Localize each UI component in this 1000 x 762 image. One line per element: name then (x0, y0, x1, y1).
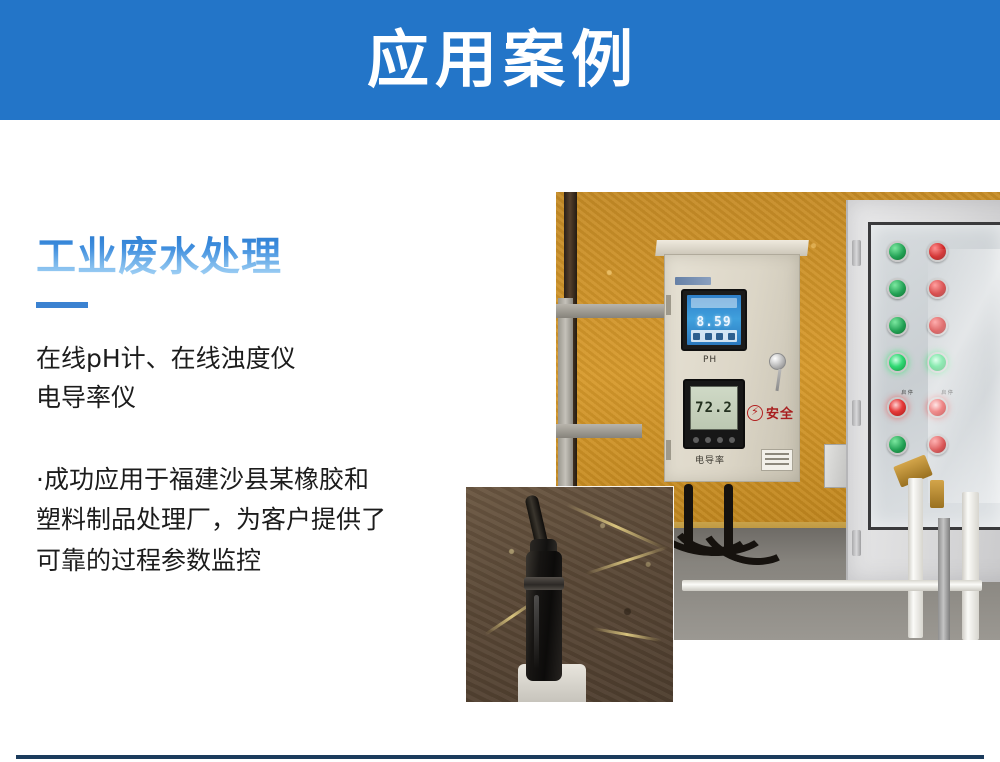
conductivity-key (729, 437, 735, 443)
ph-key (705, 333, 712, 340)
instrument-list: 在线pH计、在线浊度仪 电导率仪 (36, 340, 456, 418)
instrument-line: 电导率仪 (36, 379, 456, 418)
cable-drop (684, 484, 693, 552)
ph-key (716, 333, 723, 340)
instrument-line: 在线pH计、在线浊度仪 (36, 340, 456, 379)
pushbutton-red (927, 397, 948, 418)
indicator-lamp-green-lit (887, 352, 908, 373)
control-cabinet-hinge (852, 530, 861, 556)
pvc-pipe-vertical (962, 492, 979, 640)
probe-collar (524, 577, 564, 590)
cable-drop (724, 484, 733, 556)
cabinet-key (775, 369, 781, 391)
nameplate-line (765, 453, 789, 455)
safety-marking: ⚡ 安全 (747, 403, 794, 422)
application-case-page: 应用案例 工业废水处理 在线pH计、在线浊度仪 电导率仪 ·成功应用于福建沙县某… (0, 0, 1000, 762)
page-title: 应用案例 (361, 29, 639, 91)
indicator-lamp-green (887, 241, 908, 262)
indicator-lamp-red (927, 278, 948, 299)
sensor-probe-body (526, 551, 562, 681)
indicator-lamp-green (887, 315, 908, 336)
control-cabinet-hinge (852, 400, 861, 426)
indicator-lamp-green (887, 278, 908, 299)
metal-support-post (938, 518, 950, 640)
sensor-probe-photo (466, 487, 673, 702)
pushbutton-caption: 启 停 (887, 389, 927, 396)
mounting-bracket (556, 424, 642, 438)
pushbutton-red (887, 397, 908, 418)
case-description-line: 塑料制品处理厂，为客户提供了 (36, 500, 446, 541)
cabinet-door-panel: 8.59 PH 72.2 (664, 254, 800, 482)
pvc-pipe-horizontal (682, 580, 982, 591)
safety-label-text: 安全 (766, 403, 794, 422)
conductivity-key (717, 437, 723, 443)
case-description: ·成功应用于福建沙县某橡胶和 塑料制品处理厂，为客户提供了 可靠的过程参数监控 (36, 460, 446, 582)
cabinet-nameplate (761, 449, 793, 471)
nameplate-line (765, 458, 789, 460)
case-description-line: 可靠的过程参数监控 (36, 541, 446, 582)
pushbutton-with-caption: 启 停 (887, 389, 927, 418)
ph-meter-device: 8.59 (681, 289, 747, 351)
probe-highlight (534, 595, 539, 669)
ph-screen-header-bar (691, 298, 737, 308)
conductivity-key (693, 437, 699, 443)
ph-meter-label: PH (703, 355, 717, 365)
conductivity-meter-device: 72.2 (683, 379, 745, 449)
ph-key (693, 333, 700, 340)
ph-key (728, 333, 735, 340)
indicator-lamp-green (887, 434, 908, 455)
indicator-lamp-red (927, 315, 948, 336)
brass-fitting (930, 480, 944, 508)
indicator-lamp-grid: 启 停 启 停 (887, 241, 967, 455)
header-banner: 应用案例 (0, 0, 1000, 120)
ph-meter-screen: 8.59 (687, 295, 741, 345)
nameplate-line (765, 463, 789, 465)
heading-underline-rule (36, 302, 88, 308)
cabinet-hinge (666, 440, 671, 460)
control-cabinet-hinge (852, 240, 861, 266)
instrument-cabinet: 8.59 PH 72.2 (664, 240, 800, 485)
case-text-column: 工业废水处理 在线pH计、在线浊度仪 电导率仪 ·成功应用于福建沙县某橡胶和 塑… (36, 236, 456, 581)
conductivity-meter-label: 电导率 (695, 453, 725, 466)
indicator-lamp-green-lit (927, 352, 948, 373)
cabinet-hinge (666, 295, 671, 315)
conductivity-meter-screen: 72.2 (690, 386, 738, 430)
ph-meter-keypad (691, 330, 737, 342)
indicator-lamp-red (927, 241, 948, 262)
case-description-line: ·成功应用于福建沙县某橡胶和 (36, 460, 446, 501)
pushbutton-caption: 启 停 (927, 389, 967, 396)
section-heading: 工业废水处理 (36, 236, 366, 278)
conductivity-meter-keypad (690, 435, 738, 445)
lightning-bolt-icon: ⚡ (747, 405, 763, 421)
mounting-bracket (556, 304, 676, 318)
ph-reading-value: 8.59 (696, 315, 731, 330)
cabinet-lock (769, 353, 786, 370)
footer-divider-rule (16, 755, 984, 759)
brand-logo (675, 277, 711, 285)
conductivity-key (705, 437, 711, 443)
conductivity-reading-value: 72.2 (695, 400, 733, 416)
pvc-pipe-vertical (908, 478, 923, 638)
indicator-lamp-red (927, 434, 948, 455)
pushbutton-with-caption: 启 停 (927, 389, 967, 418)
